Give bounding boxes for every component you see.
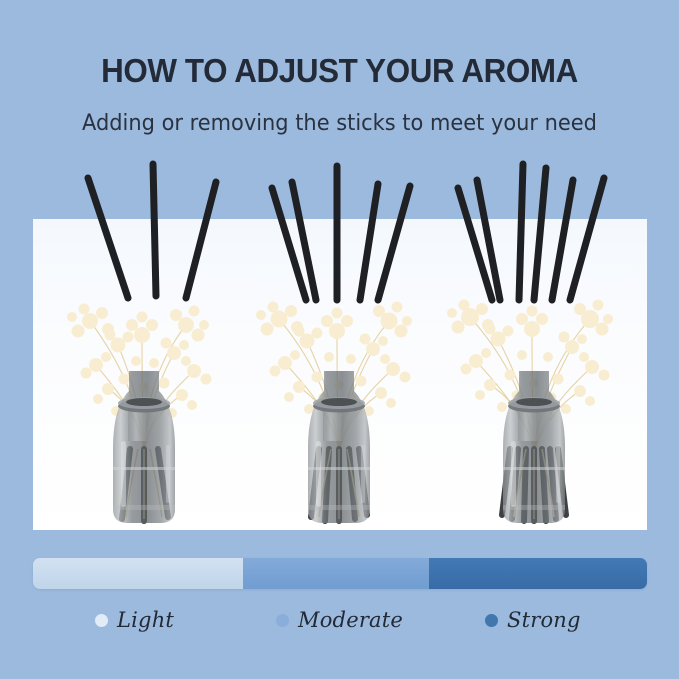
bar-segment-moderate[interactable] — [243, 558, 429, 589]
product-photo-panel — [33, 219, 647, 530]
legend-dot-light-icon — [95, 614, 108, 627]
glass-vase — [501, 371, 569, 523]
diffuser-strong — [408, 219, 647, 530]
diffuser-strong-svg — [408, 219, 647, 530]
photo-clip — [33, 219, 647, 530]
legend: Light Moderate Strong — [33, 608, 647, 648]
legend-item-strong[interactable]: Strong — [485, 608, 581, 632]
legend-dot-strong-icon — [485, 614, 498, 627]
legend-label-light: Light — [117, 608, 174, 632]
glass-vase — [111, 371, 179, 523]
legend-item-moderate[interactable]: Moderate — [276, 608, 403, 632]
glass-vase — [306, 371, 374, 523]
legend-item-light[interactable]: Light — [95, 608, 174, 632]
bar-segment-strong[interactable] — [429, 558, 647, 589]
legend-dot-moderate-icon — [276, 614, 289, 627]
header-section: HOW TO ADJUST YOUR AROMA Adding or remov… — [0, 0, 679, 210]
bar-segment-light[interactable] — [33, 558, 243, 589]
legend-label-strong: Strong — [507, 608, 581, 632]
legend-label-moderate: Moderate — [298, 608, 403, 632]
page-subtitle: Adding or removing the sticks to meet yo… — [24, 110, 655, 136]
intensity-gradient-bar[interactable] — [33, 558, 647, 589]
page-title: HOW TO ADJUST YOUR AROMA — [17, 52, 662, 90]
